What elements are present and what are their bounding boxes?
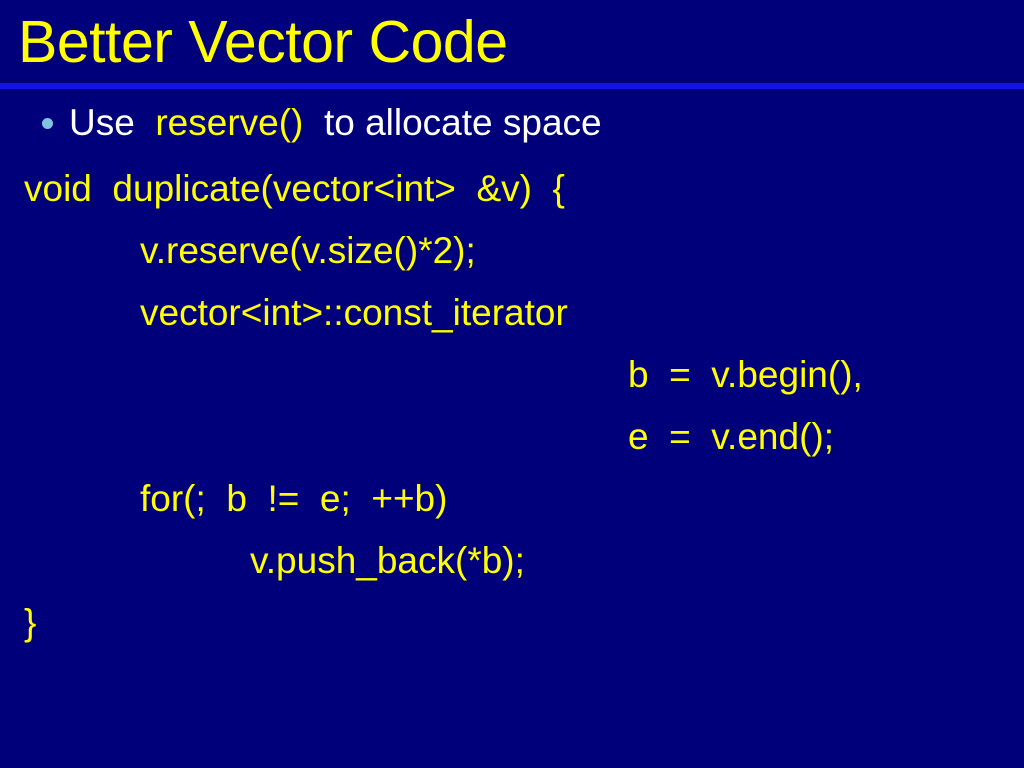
code-line: for(; b != e; ++b) [0,468,1024,530]
code-line: void duplicate(vector<int> &v) { [0,158,1024,220]
slide: Better Vector Code Use reserve() to allo… [0,0,1024,768]
code-block: void duplicate(vector<int> &v) {v.reserv… [0,158,1024,654]
code-line: vector<int>::const_iterator [0,282,1024,344]
page-title: Better Vector Code [18,6,508,78]
bullet-keyword: reserve() [155,102,303,143]
code-line: e = v.end(); [0,406,1024,468]
code-line: v.push_back(*b); [0,530,1024,592]
bullet-text-after: to allocate space [303,102,601,143]
code-line: v.reserve(v.size()*2); [0,220,1024,282]
code-line: b = v.begin(), [0,344,1024,406]
bullet-text-before: Use [69,102,155,143]
bullet-item-label: Use reserve() to allocate space [69,100,602,146]
bullet-item: Use reserve() to allocate space [42,100,602,146]
code-line: } [0,592,1024,654]
title-divider [0,83,1024,89]
bullet-dot-icon [42,118,53,129]
